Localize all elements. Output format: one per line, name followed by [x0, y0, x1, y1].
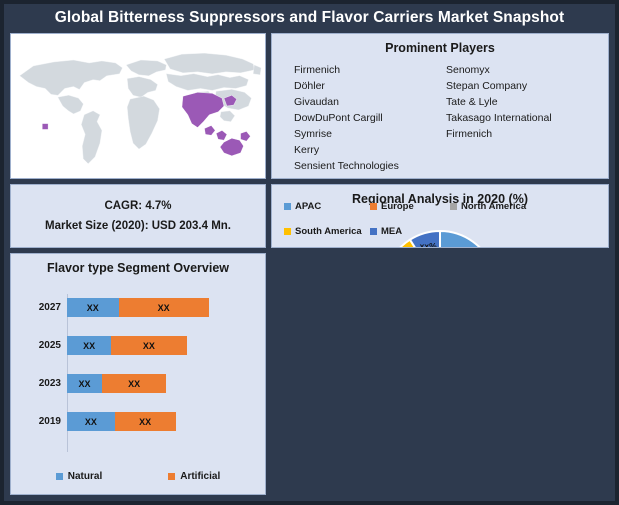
- legend-swatch-icon: [284, 228, 291, 235]
- bar-data-label: XX: [143, 341, 155, 351]
- list-item: Senomyx: [446, 63, 552, 79]
- legend-swatch-icon: [56, 473, 63, 480]
- legend-item-artificial: Artificial: [168, 471, 220, 482]
- legend-swatch-icon: [370, 228, 377, 235]
- legend-item-natural: Natural: [56, 471, 102, 482]
- infographic-title-bar: Global Bitterness Suppressors and Flavor…: [4, 4, 615, 32]
- legend-label: APAC: [295, 201, 321, 212]
- bar-category-label: 2019: [23, 416, 67, 427]
- legend-label: Natural: [68, 471, 102, 482]
- bar-category-label: 2027: [23, 302, 67, 313]
- regional-analysis-panel: Regional Analysis in 2020 (%) xx%xx%xx%x…: [271, 184, 609, 248]
- market-snapshot-infographic: Global Bitterness Suppressors and Flavor…: [0, 0, 619, 505]
- prominent-players-title: Prominent Players: [272, 34, 608, 55]
- key-metrics-panel: CAGR: 4.7% Market Size (2020): USD 203.4…: [10, 184, 266, 248]
- list-item: Takasago International: [446, 111, 552, 127]
- bar-segment-artificial: XX: [115, 412, 176, 431]
- bar-segment-natural: XX: [67, 336, 111, 355]
- list-item: Givaudan: [294, 95, 446, 111]
- list-item: DowDuPont Cargill: [294, 111, 446, 127]
- bar-track: XXXX: [67, 298, 251, 317]
- content-grid: Prominent Players Firmenich Döhler Givau…: [10, 33, 609, 495]
- legend-item-apac: APAC: [284, 201, 370, 212]
- bar-data-label: XX: [139, 417, 151, 427]
- cagr-value: CAGR: 4.7%: [104, 200, 171, 212]
- list-item: Döhler: [294, 79, 446, 95]
- bar-segment-natural: XX: [67, 298, 119, 317]
- bar-row: 2023XXXX: [23, 374, 251, 393]
- legend-item-mea: MEA: [370, 226, 402, 237]
- bar-segment-natural: XX: [67, 412, 115, 431]
- bar-track: XXXX: [67, 412, 251, 431]
- bar-category-label: 2025: [23, 340, 67, 351]
- bar-track: XXXX: [67, 374, 251, 393]
- legend-label: Artificial: [180, 471, 220, 482]
- prominent-players-columns: Firmenich Döhler Givaudan DowDuPont Carg…: [272, 55, 608, 175]
- players-column-2: Senomyx Stepan Company Tate & Lyle Takas…: [446, 63, 552, 175]
- legend-label: South America: [295, 226, 362, 237]
- bar-row: 2025XXXX: [23, 336, 251, 355]
- flavor-type-bar-chart: 2027XXXX2025XXXX2023XXXX2019XXXX: [11, 282, 265, 460]
- prominent-players-panel: Prominent Players Firmenich Döhler Givau…: [271, 33, 609, 179]
- legend-swatch-icon: [450, 203, 457, 210]
- legend-swatch-icon: [284, 203, 291, 210]
- list-item: Stepan Company: [446, 79, 552, 95]
- bar-data-label: XX: [83, 341, 95, 351]
- bar-data-label: XX: [128, 379, 140, 389]
- market-size-value: Market Size (2020): USD 203.4 Mn.: [45, 220, 231, 232]
- world-map-image: [11, 34, 265, 178]
- bar-data-label: XX: [85, 417, 97, 427]
- bar-segment-artificial: XX: [119, 298, 209, 317]
- legend-item-europe: Europe: [370, 201, 450, 212]
- world-map-panel: [10, 33, 266, 179]
- bar-row: 2027XXXX: [23, 298, 251, 317]
- list-item: Firmenich: [294, 63, 446, 79]
- players-column-1: Firmenich Döhler Givaudan DowDuPont Carg…: [294, 63, 446, 175]
- flavor-type-title: Flavor type Segment Overview: [11, 254, 265, 275]
- flavor-type-legend: Natural Artificial: [11, 471, 265, 482]
- legend-item-south-america: South America: [284, 226, 370, 237]
- legend-label: MEA: [381, 226, 402, 237]
- bar-plot-area: 2027XXXX2025XXXX2023XXXX2019XXXX: [23, 292, 251, 452]
- list-item: Symrise: [294, 127, 446, 143]
- bar-segment-natural: XX: [67, 374, 102, 393]
- legend-label: North America: [461, 201, 526, 212]
- regional-analysis-legend: APAC Europe North America South America: [280, 201, 600, 237]
- bar-track: XXXX: [67, 336, 251, 355]
- world-map-svg: [11, 34, 265, 178]
- legend-label: Europe: [381, 201, 414, 212]
- legend-row-1: APAC Europe North America: [280, 201, 600, 212]
- key-metrics-stack: CAGR: 4.7% Market Size (2020): USD 203.4…: [11, 185, 265, 247]
- legend-swatch-icon: [168, 473, 175, 480]
- list-item: Sensient Technologies: [294, 159, 446, 175]
- bar-data-label: XX: [87, 303, 99, 313]
- page-title: Global Bitterness Suppressors and Flavor…: [55, 9, 565, 27]
- flavor-type-panel: Flavor type Segment Overview 2027XXXX202…: [10, 253, 266, 495]
- bar-category-label: 2023: [23, 378, 67, 389]
- bar-row: 2019XXXX: [23, 412, 251, 431]
- bar-segment-artificial: XX: [111, 336, 186, 355]
- list-item: Kerry: [294, 143, 446, 159]
- list-item: Firmenich: [446, 127, 552, 143]
- legend-swatch-icon: [370, 203, 377, 210]
- legend-row-2: South America MEA: [280, 226, 600, 237]
- legend-item-north-america: North America: [450, 201, 526, 212]
- bar-data-label: XX: [158, 303, 170, 313]
- donut-data-label: xx%: [420, 241, 437, 248]
- bar-data-label: XX: [78, 379, 90, 389]
- list-item: Tate & Lyle: [446, 95, 552, 111]
- bar-segment-artificial: XX: [102, 374, 166, 393]
